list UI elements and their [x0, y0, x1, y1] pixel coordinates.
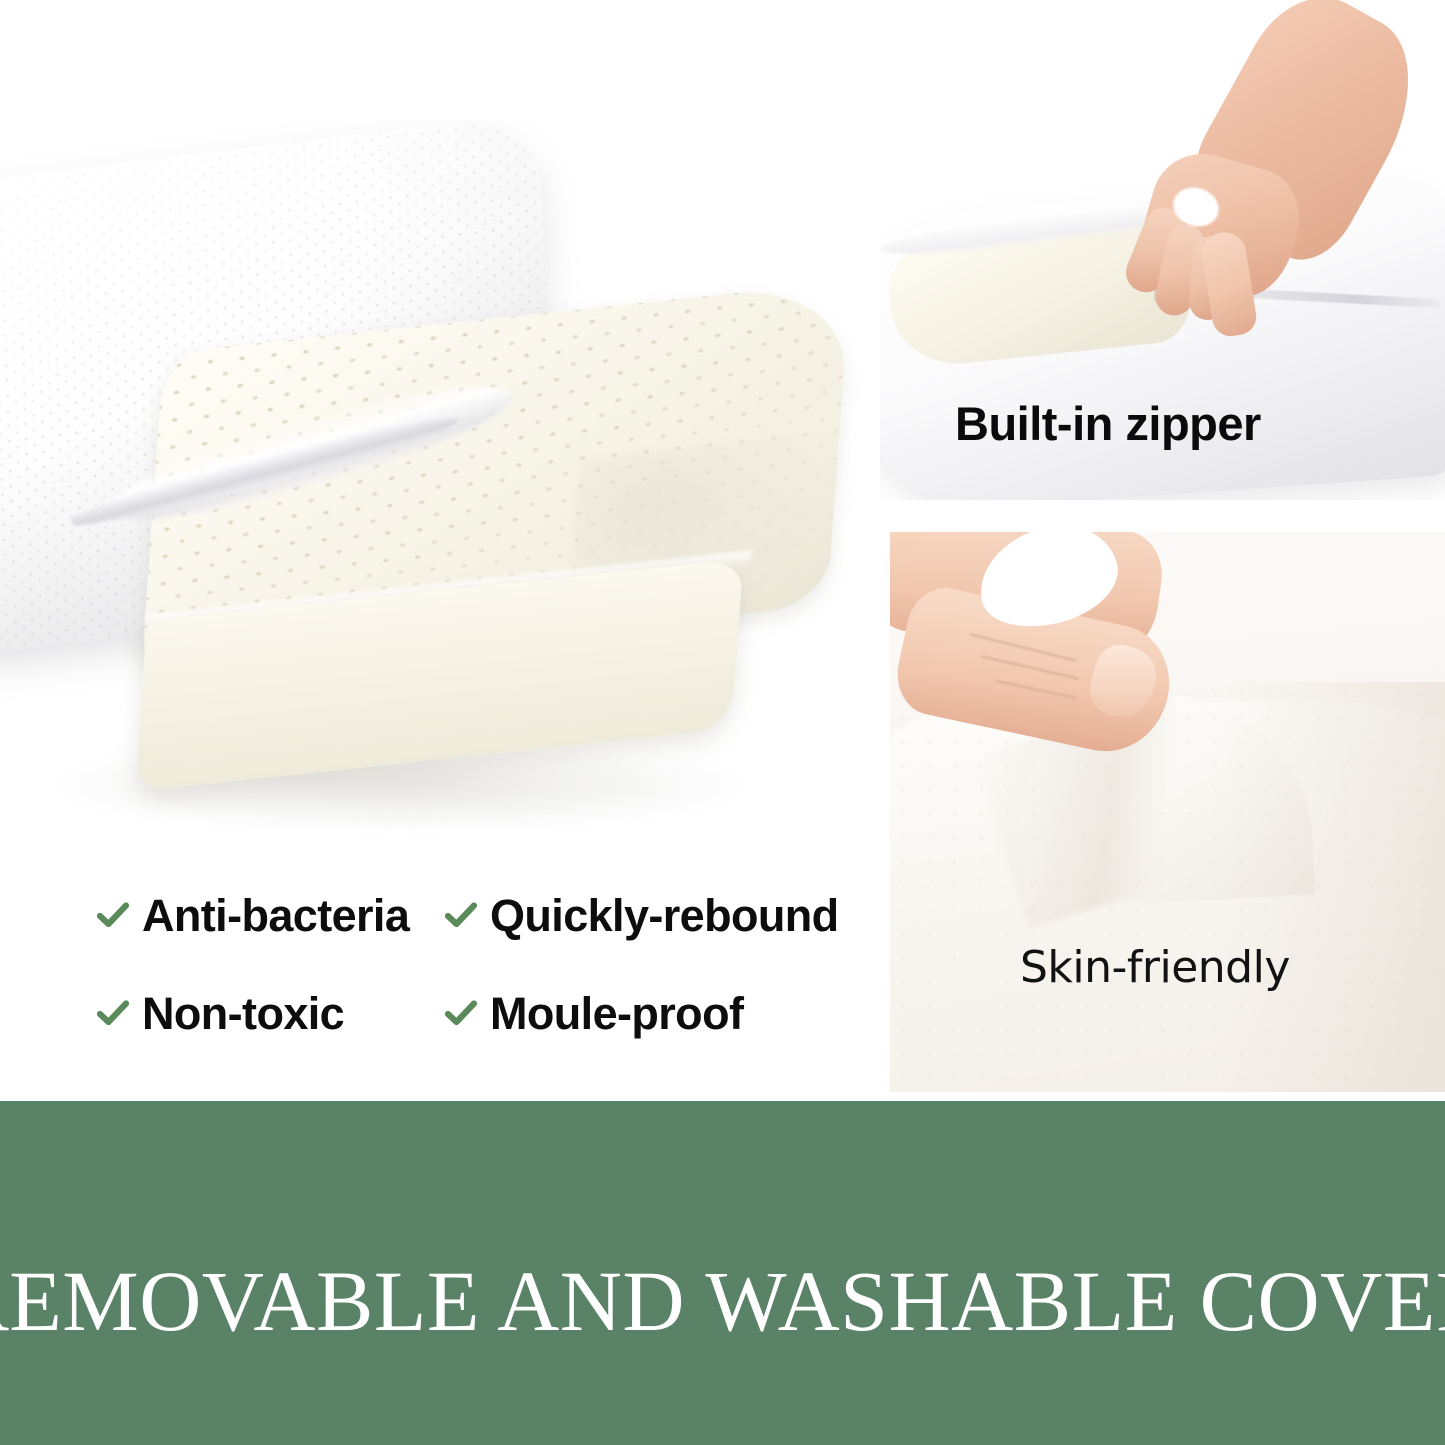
latex-pillow-with-cover-photo: [0, 120, 870, 860]
feature-item-quickly-rebound: Quickly-rebound: [444, 893, 844, 938]
skin-friendly-caption: Skin-friendly: [1020, 946, 1290, 990]
latex-core: [130, 281, 850, 829]
top-content-area: Anti-bacteria Quickly-rebound N: [0, 0, 1445, 1101]
feature-list: Anti-bacteria Quickly-rebound N: [96, 866, 866, 1062]
feature-item-non-toxic: Non-toxic: [96, 991, 444, 1036]
feature-row: Non-toxic Moule-proof: [96, 964, 866, 1062]
zipper-panel: Built-in zipper: [880, 0, 1445, 500]
check-icon: [444, 898, 478, 932]
skin-friendly-panel: Skin-friendly: [890, 532, 1445, 1092]
banner-title: REMOVABLE AND WASHABLE COVER: [0, 1258, 1445, 1344]
feature-label: Quickly-rebound: [490, 893, 839, 938]
check-icon: [96, 996, 130, 1030]
feature-label: Moule-proof: [490, 991, 743, 1036]
fabric-right-shading: [1220, 682, 1445, 1092]
hand-pinching-fabric: [890, 532, 1240, 756]
main-product-panel: Anti-bacteria Quickly-rebound N: [0, 0, 880, 1101]
feature-row: Anti-bacteria Quickly-rebound: [96, 866, 866, 964]
feature-item-moule-proof: Moule-proof: [444, 991, 844, 1036]
product-infographic: Anti-bacteria Quickly-rebound N: [0, 0, 1445, 1445]
bottom-banner: REMOVABLE AND WASHABLE COVER: [0, 1101, 1445, 1445]
feature-item-anti-bacteria: Anti-bacteria: [96, 893, 444, 938]
check-icon: [444, 996, 478, 1030]
zipper-caption: Built-in zipper: [955, 400, 1261, 447]
feature-label: Anti-bacteria: [142, 893, 409, 938]
feature-label: Non-toxic: [142, 991, 344, 1036]
check-icon: [96, 898, 130, 932]
hand-pulling-zipper: [1095, 10, 1425, 310]
